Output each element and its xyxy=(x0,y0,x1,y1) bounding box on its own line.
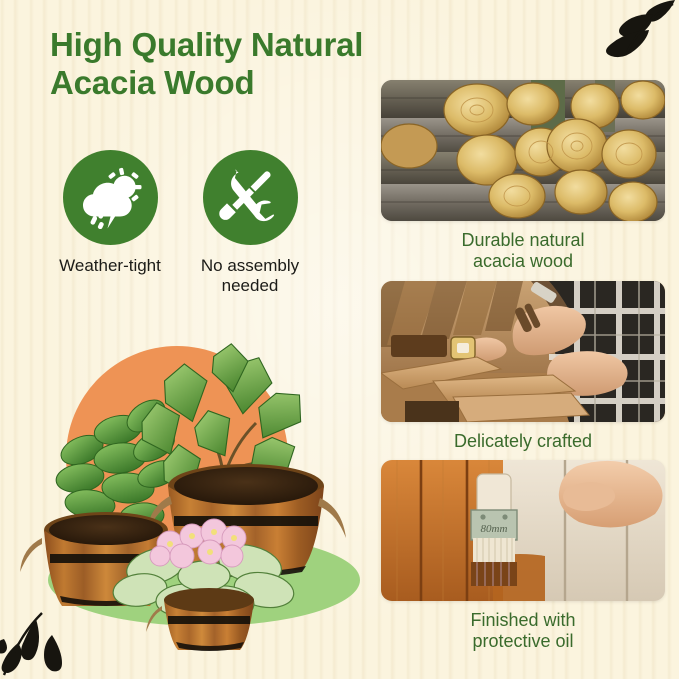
panel-3-caption-line-1: Finished with xyxy=(381,610,665,631)
panel-3-caption: Finished with protective oil xyxy=(381,610,665,652)
storm-cloud-badge xyxy=(63,150,158,245)
leaf-branch-icon xyxy=(599,0,677,62)
panel-3-caption-line-2: protective oil xyxy=(381,631,665,652)
feature-no-assembly-label-line-1: No assembly xyxy=(180,256,320,276)
feature-no-assembly: No assembly needed xyxy=(180,150,320,296)
panel-2-caption: Delicately crafted xyxy=(381,431,665,452)
storm-cloud-icon xyxy=(78,167,142,229)
panel-1-caption-line-2: acacia wood xyxy=(381,251,665,272)
product-infographic: High Quality Natural Acacia Wood xyxy=(0,0,679,679)
panel-1-caption: Durable natural acacia wood xyxy=(381,230,665,272)
feature-no-assembly-label: No assembly needed xyxy=(180,256,320,296)
panel-2-caption-line-1: Delicately crafted xyxy=(381,431,665,452)
feature-no-assembly-label-line-2: needed xyxy=(180,276,320,296)
craftsman-illustration xyxy=(381,281,665,422)
ornament-top-right xyxy=(599,0,677,62)
page-title-line-2: Acacia Wood xyxy=(50,64,380,102)
panel-durable-acacia-wood: Durable natural acacia wood xyxy=(381,80,665,272)
panel-finished-protective-oil: 80mm Finished with protective oil xyxy=(381,460,665,652)
panel-1-caption-line-1: Durable natural xyxy=(381,230,665,251)
oiling-wood-with-brush-photo: 80mm xyxy=(381,460,665,601)
leaf-branch-icon xyxy=(0,609,78,677)
feature-weather-tight-label: Weather-tight xyxy=(40,256,180,276)
craftsman-measuring-wood-photo xyxy=(381,281,665,422)
oil-brush-illustration: 80mm xyxy=(381,460,665,601)
panel-delicately-crafted: Delicately crafted xyxy=(381,281,665,452)
stacked-logs-photo xyxy=(381,80,665,221)
ornament-bottom-left xyxy=(0,609,78,677)
feature-weather-tight: Weather-tight xyxy=(40,150,180,276)
brush-size-label: 80mm xyxy=(481,523,508,535)
page-title: High Quality Natural Acacia Wood xyxy=(50,26,380,102)
wrench-screwdriver-badge xyxy=(203,150,298,245)
page-title-line-1: High Quality Natural xyxy=(50,26,380,64)
stacked-logs-illustration xyxy=(381,80,665,221)
wrench-screwdriver-icon xyxy=(219,167,281,229)
